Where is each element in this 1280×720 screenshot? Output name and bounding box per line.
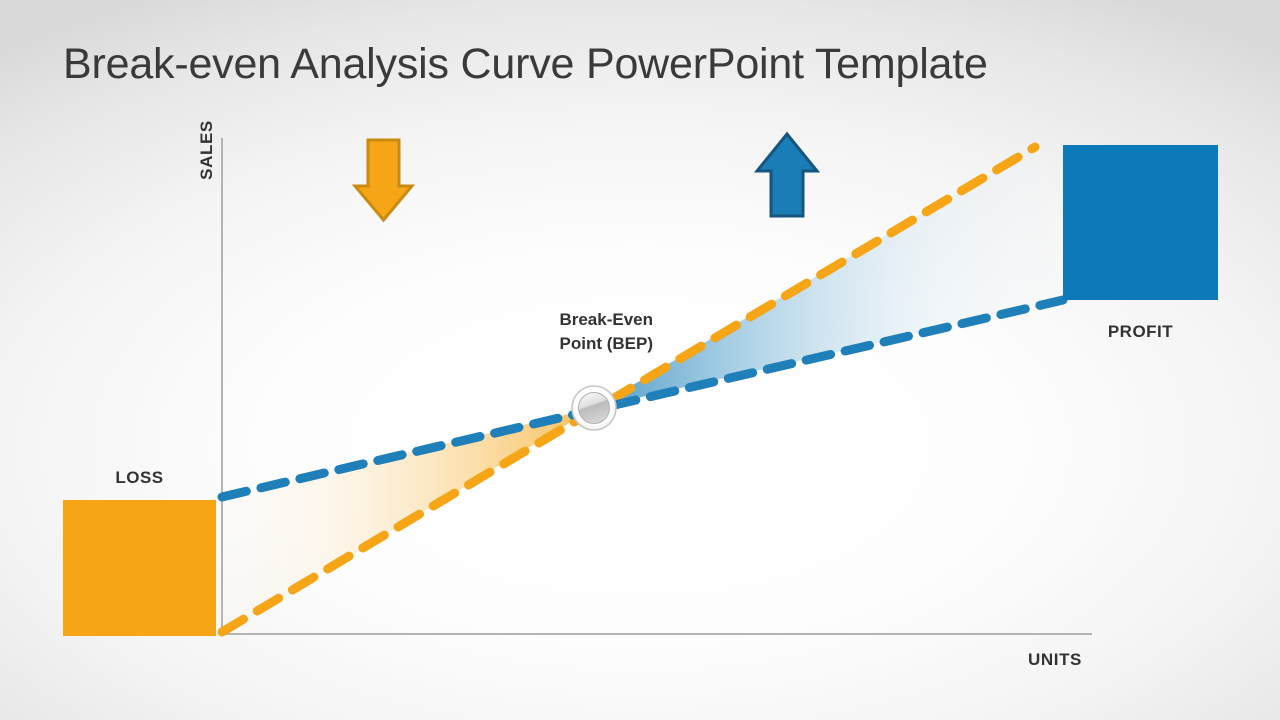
x-axis-label: UNITS xyxy=(1028,650,1082,670)
profit-up-arrow xyxy=(757,134,817,216)
profit-label: PROFIT xyxy=(1063,322,1218,342)
break-even-annotation-line-2: Point (BEP) xyxy=(477,332,653,356)
break-even-point-marker[interactable] xyxy=(572,386,616,430)
loss-down-arrow xyxy=(355,140,412,220)
loss-label: LOSS xyxy=(63,468,216,488)
break-even-annotation-line-1: Break-Even xyxy=(477,308,653,332)
slide-canvas: Break-even Analysis Curve PowerPoint Tem… xyxy=(0,0,1280,720)
y-axis-label: SALES xyxy=(197,105,217,195)
profit-color-box xyxy=(1063,145,1218,300)
total-revenue-line xyxy=(222,147,1035,632)
loss-color-box xyxy=(63,500,216,636)
break-even-annotation: Break-Even Point (BEP) xyxy=(477,308,653,356)
